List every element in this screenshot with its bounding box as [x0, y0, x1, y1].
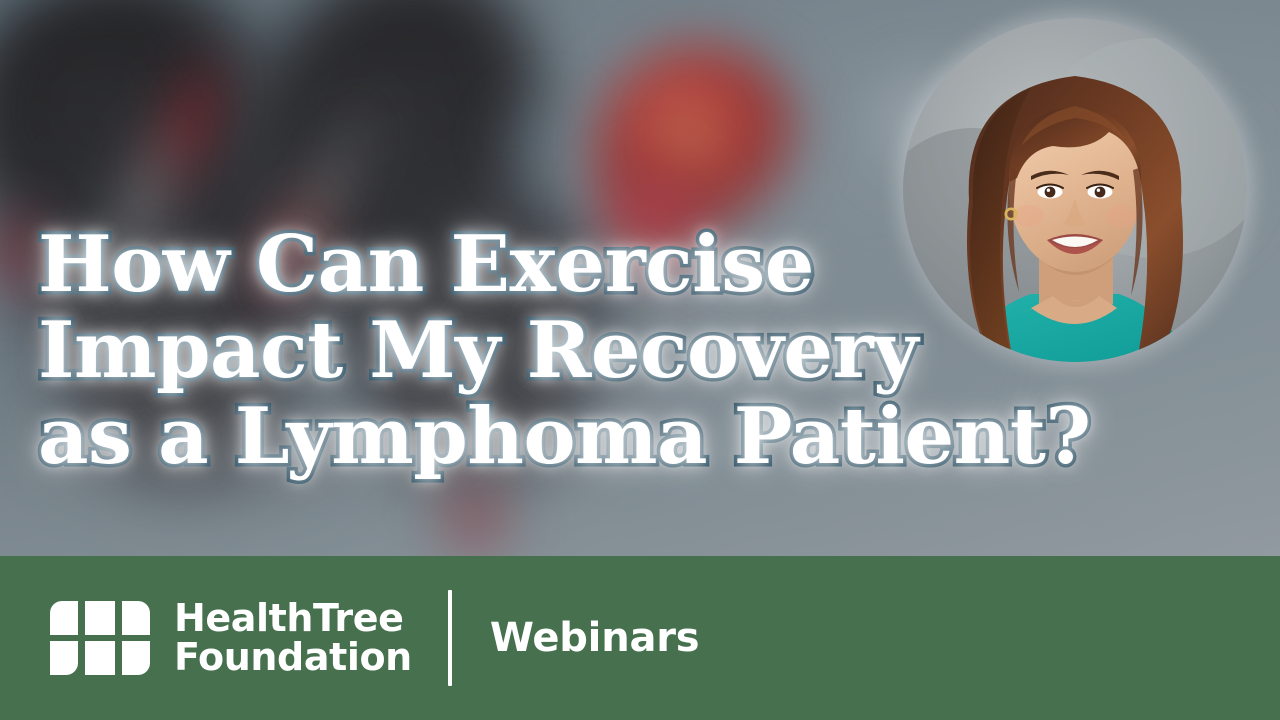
brand-divider — [448, 590, 452, 686]
title-line-1: How Can Exercise — [38, 222, 1218, 308]
healthtree-grid-logo-icon — [48, 599, 152, 677]
wordmark-line-2: Foundation — [174, 638, 412, 677]
brand-lockup: HealthTree Foundation — [48, 599, 412, 677]
wordmark-line-1: HealthTree — [174, 599, 412, 638]
title-line-2: Impact My Recovery — [38, 308, 1218, 394]
brand-footer-bar: HealthTree Foundation Webinars — [0, 556, 1280, 720]
title-line-3: as a Lymphoma Patient? — [38, 394, 1218, 480]
title-block: How Can Exercise Impact My Recovery as a… — [38, 222, 1218, 479]
healthtree-wordmark: HealthTree Foundation — [174, 599, 412, 677]
video-thumbnail: How Can Exercise Impact My Recovery as a… — [0, 0, 1280, 720]
section-label-webinars: Webinars — [490, 615, 700, 661]
